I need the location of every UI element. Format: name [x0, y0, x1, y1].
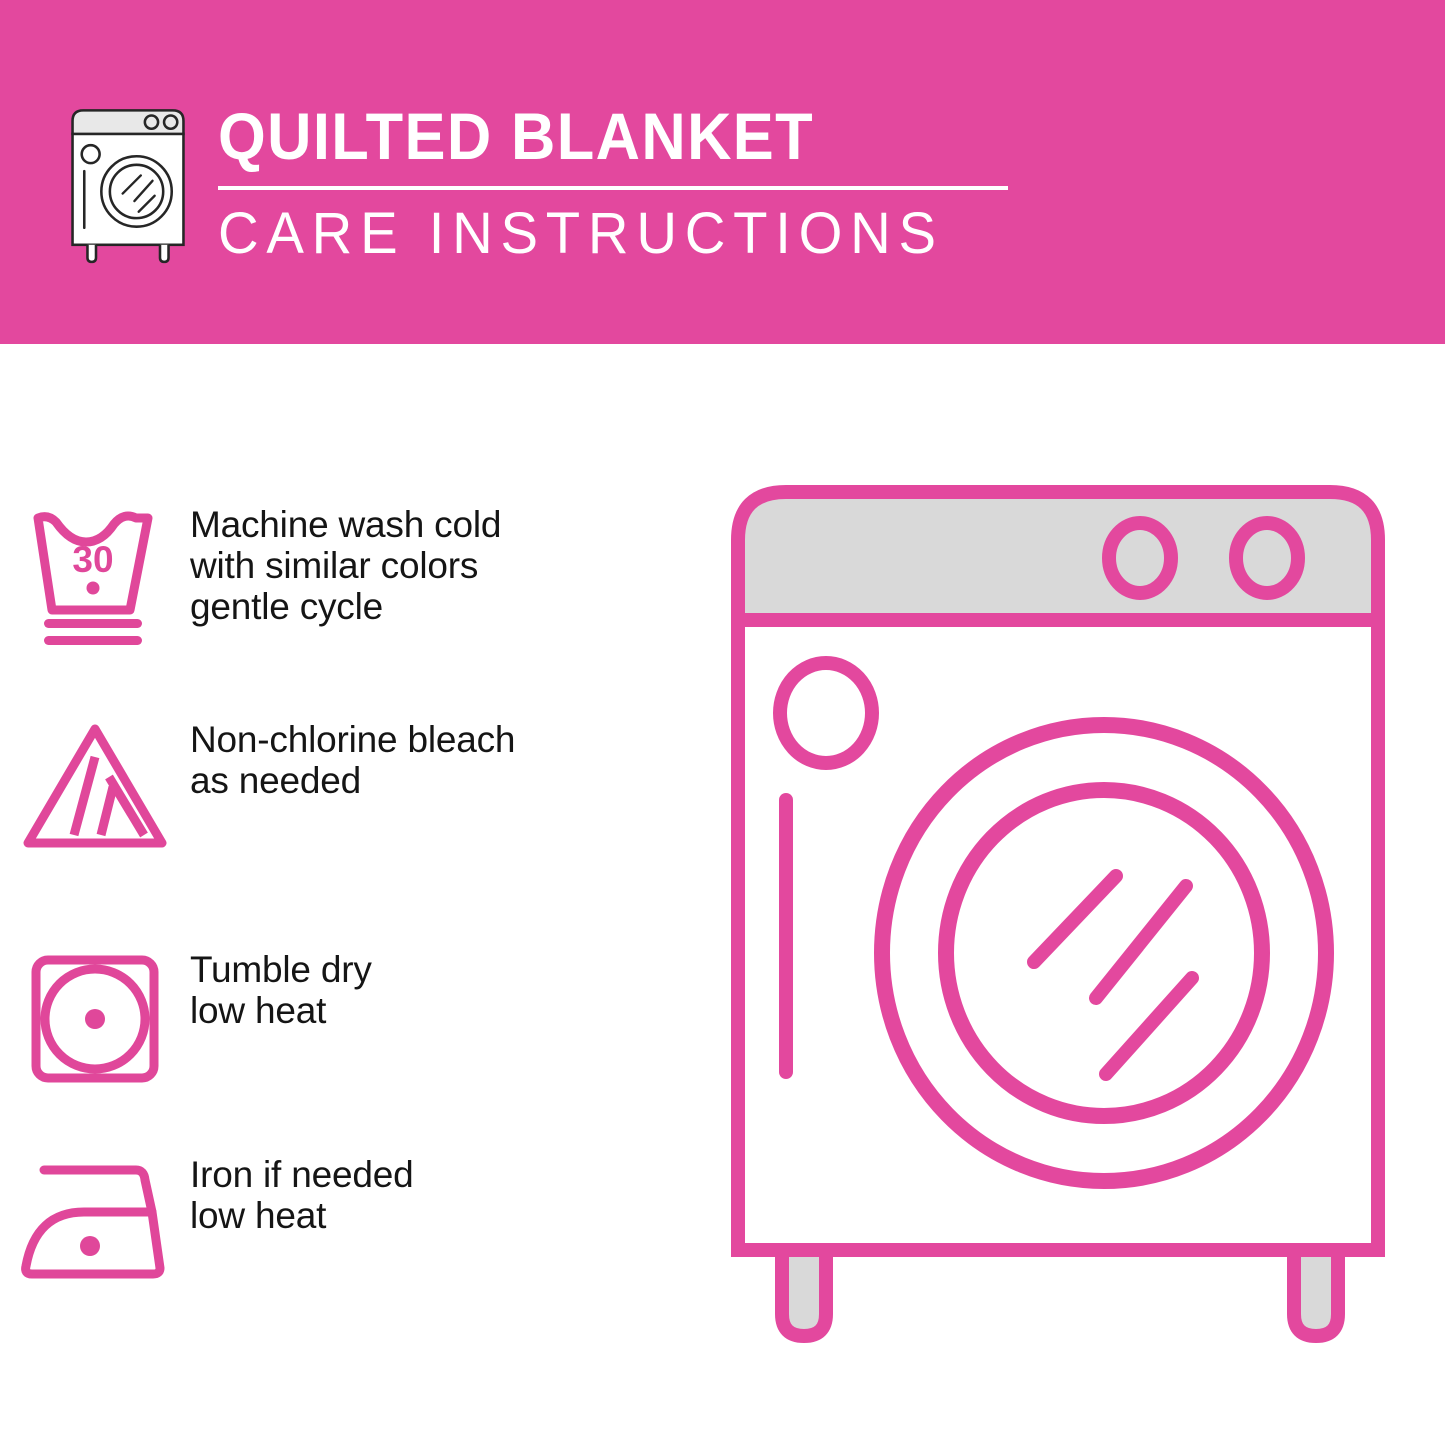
care-line: low heat	[190, 1195, 413, 1236]
header-content: QUILTED BLANKET CARE INSTRUCTIONS	[62, 96, 1008, 266]
page-subtitle: CARE INSTRUCTIONS	[218, 202, 984, 266]
care-line: low heat	[190, 990, 372, 1031]
care-line: with similar colors	[190, 545, 501, 586]
washing-machine-illustration	[716, 470, 1416, 1375]
non-chlorine-bleach-icon	[0, 715, 190, 865]
care-line: Tumble dry	[190, 949, 372, 990]
iron-low-heat-icon	[0, 1150, 190, 1300]
page-title: QUILTED BLANKET	[218, 100, 953, 172]
care-row-tumble-dry: Tumble dry low heat	[0, 945, 372, 1095]
care-line: Non-chlorine bleach	[190, 719, 515, 760]
care-label-tumble-dry: Tumble dry low heat	[190, 945, 372, 1031]
machine-wash-30-gentle-icon: 30	[0, 500, 190, 650]
header-banner: QUILTED BLANKET CARE INSTRUCTIONS	[0, 0, 1445, 344]
indicator-circle	[780, 663, 872, 763]
knob-right	[1236, 523, 1298, 593]
title-divider	[218, 186, 1008, 190]
tumble-dry-low-icon	[0, 945, 190, 1095]
care-row-iron: Iron if needed low heat	[0, 1150, 413, 1300]
care-label-iron: Iron if needed low heat	[190, 1150, 413, 1236]
washing-machine-icon	[62, 104, 194, 264]
leg-right	[1294, 1250, 1338, 1336]
leg-left	[782, 1250, 826, 1336]
care-line: as needed	[190, 760, 515, 801]
care-label-bleach: Non-chlorine bleach as needed	[190, 715, 515, 801]
knob-left	[1109, 523, 1171, 593]
care-row-bleach: Non-chlorine bleach as needed	[0, 715, 515, 865]
care-line: gentle cycle	[190, 586, 501, 627]
care-label-machine-wash: Machine wash cold with similar colors ge…	[190, 500, 501, 627]
header-title-block: QUILTED BLANKET CARE INSTRUCTIONS	[218, 96, 1008, 266]
wash-temperature-value: 30	[72, 539, 113, 580]
care-line: Machine wash cold	[190, 504, 501, 545]
care-row-machine-wash: 30 Machine wash cold with similar colors…	[0, 500, 501, 650]
care-line: Iron if needed	[190, 1154, 413, 1195]
